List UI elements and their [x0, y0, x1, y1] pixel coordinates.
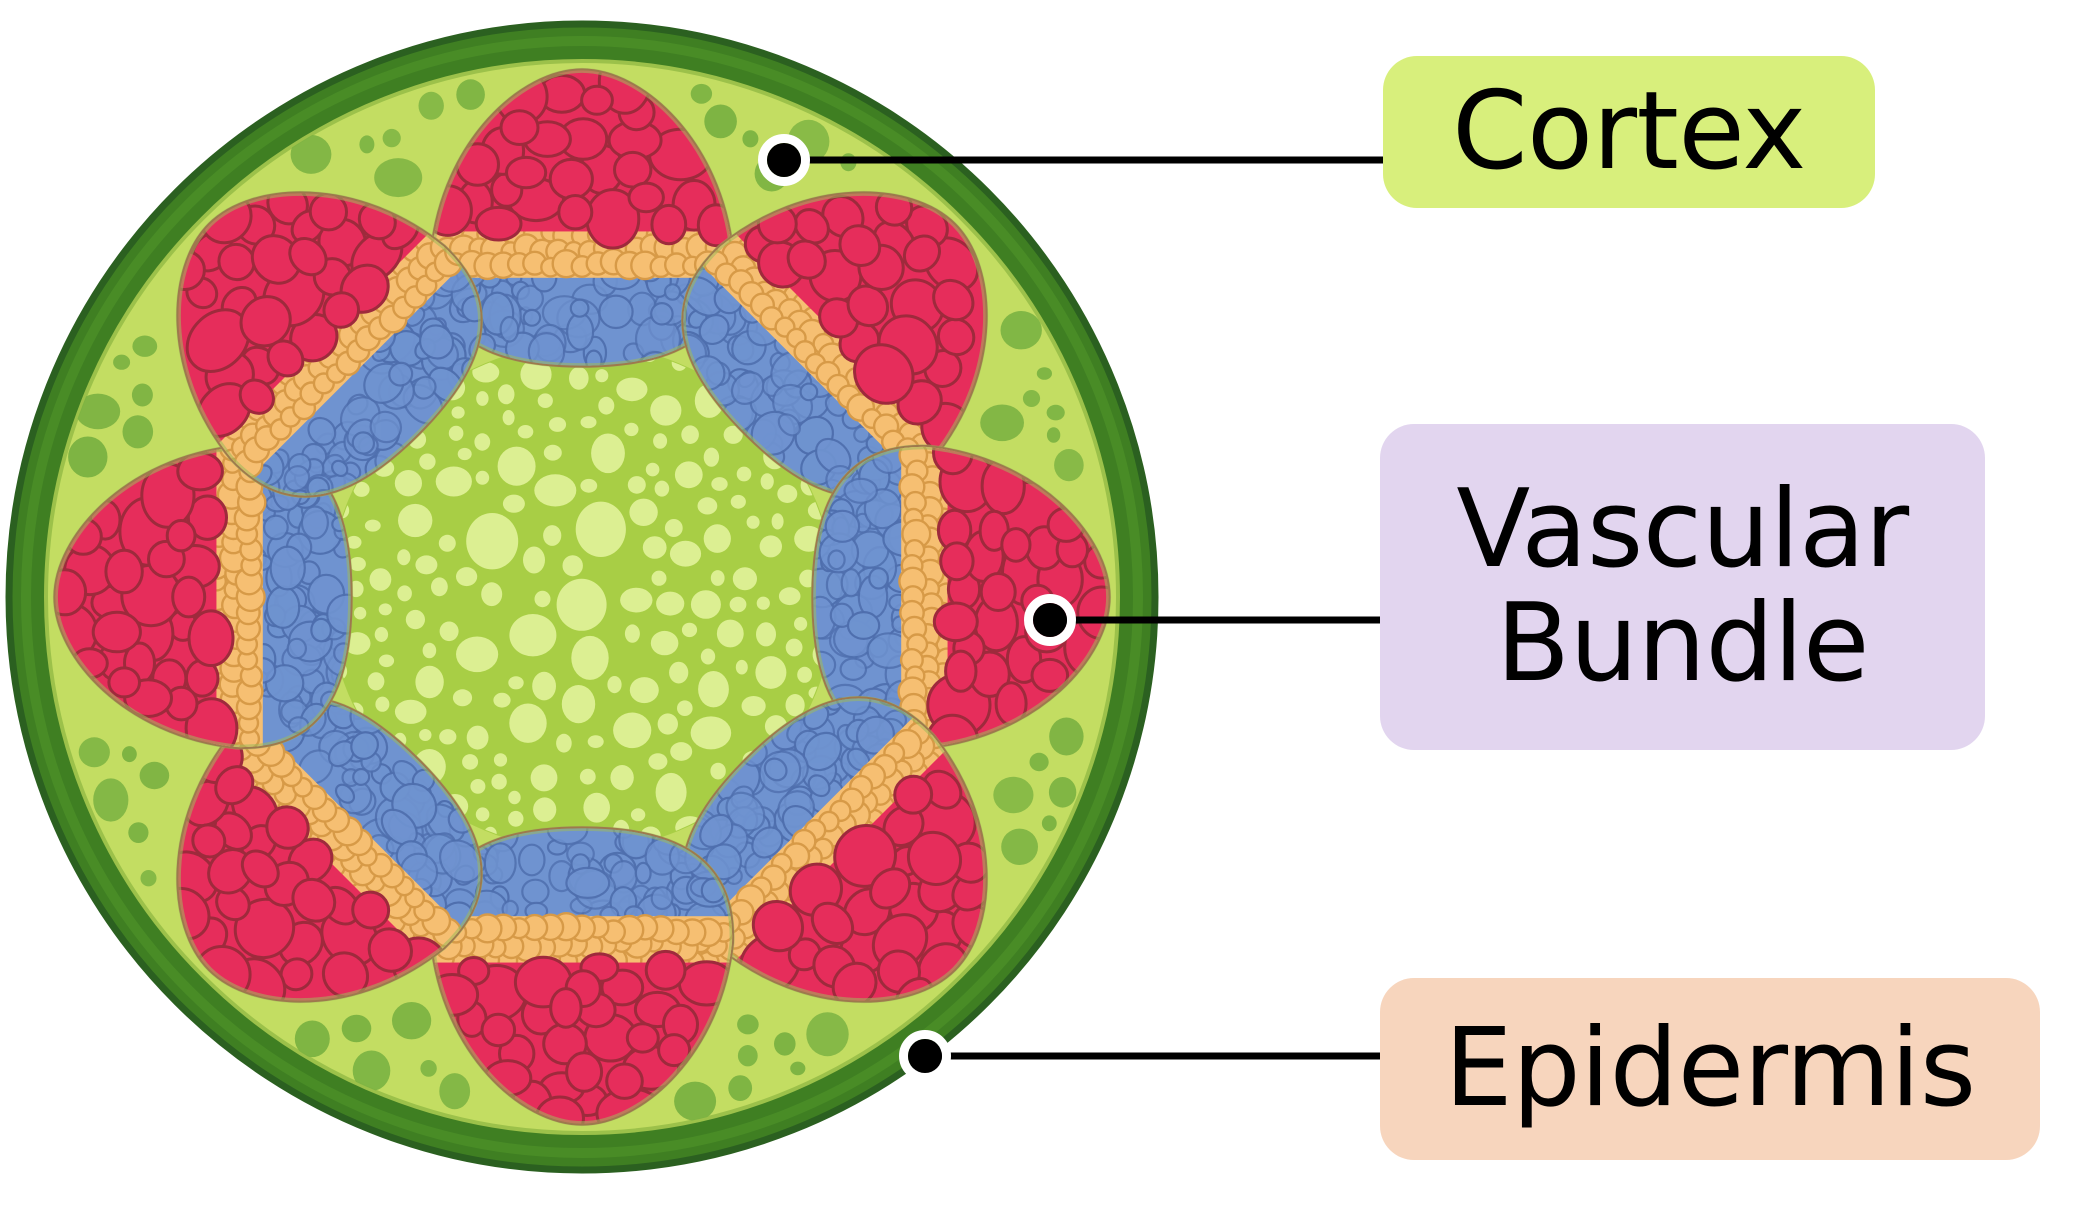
label-cortex[interactable]: Cortex [1383, 56, 1875, 208]
label-epidermis[interactable]: Epidermis [1380, 978, 2040, 1160]
label-vascular-bundle[interactable]: Vascular Bundle [1380, 424, 1985, 750]
diagram-canvas: Cortex Vascular Bundle Epidermis [0, 0, 2080, 1232]
label-epidermis-text: Epidermis [1444, 1012, 1975, 1126]
label-vascular-bundle-line2: Bundle [1496, 587, 1869, 701]
label-cortex-text: Cortex [1452, 75, 1806, 189]
label-vascular-bundle-line1: Vascular [1456, 473, 1908, 587]
